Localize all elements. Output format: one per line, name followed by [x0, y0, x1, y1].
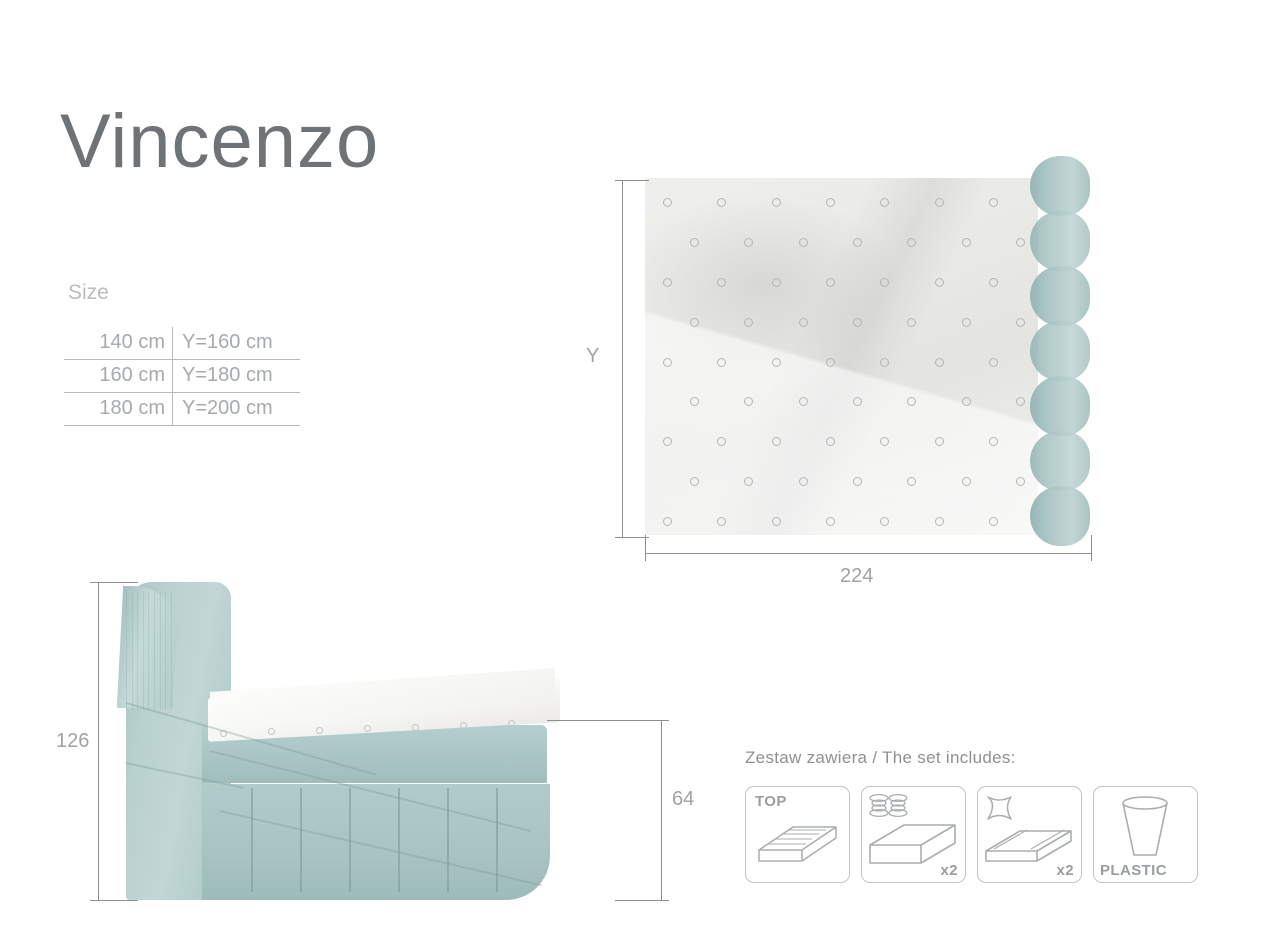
- size-width-cell: 160 cm: [64, 360, 173, 393]
- mattress-top-surface: [645, 178, 1038, 535]
- set-item-plastic-leg[interactable]: PLASTIC: [1093, 786, 1198, 883]
- dimension-line-height: [98, 582, 99, 900]
- page-title: Vincenzo: [60, 104, 379, 180]
- dimension-tick-base-bottom: [615, 900, 669, 901]
- table-row: 140 cm Y=160 cm: [64, 327, 300, 360]
- dimension-label-base-height: 64: [672, 788, 694, 811]
- dimension-tick-base-top: [547, 720, 669, 721]
- size-width-cell: 140 cm: [64, 327, 173, 360]
- set-includes-title: Zestaw zawiera / The set includes:: [745, 748, 1016, 768]
- set-item-pillow-topper[interactable]: x2: [977, 786, 1082, 883]
- set-item-spring-mattress[interactable]: x2: [861, 786, 966, 883]
- dimension-tick-width-left: [645, 535, 646, 561]
- set-item-topper[interactable]: TOP: [745, 786, 850, 883]
- spring-mattress-icon: [862, 787, 965, 882]
- dimension-line-y: [622, 180, 623, 537]
- size-table: 140 cm Y=160 cm 160 cm Y=180 cm 180 cm Y…: [64, 327, 300, 426]
- plastic-leg-icon: [1094, 787, 1197, 882]
- dimension-tick-width-right: [1091, 535, 1092, 561]
- size-length-cell: Y=180 cm: [173, 360, 301, 393]
- mattress-side-tufting: [220, 720, 550, 732]
- dimension-tick-height-top: [90, 582, 138, 583]
- size-length-cell: Y=200 cm: [173, 393, 301, 426]
- button-tufting-dots: [645, 178, 1038, 535]
- dimension-label-width: 224: [840, 565, 873, 588]
- size-width-cell: 180 cm: [64, 393, 173, 426]
- size-length-cell: Y=160 cm: [173, 327, 301, 360]
- topper-mattress-icon: [746, 787, 849, 882]
- table-row: 180 cm Y=200 cm: [64, 393, 300, 426]
- headboard-plan: [1030, 150, 1092, 550]
- headboard-rib-lines: [122, 592, 174, 710]
- dimension-tick-y-bottom: [615, 537, 649, 538]
- dimension-tick-y-top: [615, 180, 649, 181]
- side-view-diagram: 126 64: [60, 560, 700, 910]
- pillow-topper-icon: [978, 787, 1081, 882]
- bed-base-lower-panels: [202, 784, 550, 900]
- dimension-tick-height-bottom: [90, 900, 138, 901]
- dimension-label-height: 126: [56, 730, 89, 753]
- spec-sheet: Vincenzo Size 140 cm Y=160 cm 160 cm Y=1…: [0, 0, 1280, 947]
- dimension-label-y: Y: [586, 345, 599, 368]
- dimension-line-base-height: [661, 720, 662, 900]
- set-includes-icons: TOP x2: [745, 786, 1198, 883]
- size-label: Size: [68, 281, 109, 305]
- dimension-line-width: [645, 553, 1092, 554]
- set-includes-block: Zestaw zawiera / The set includes: TOP: [745, 748, 1195, 908]
- table-row: 160 cm Y=180 cm: [64, 360, 300, 393]
- top-view-diagram: Y 224: [600, 150, 1120, 600]
